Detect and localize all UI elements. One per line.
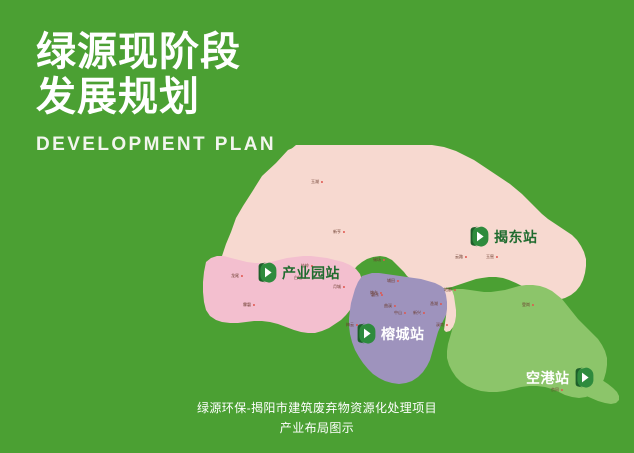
city-dot-label: 中山	[394, 310, 402, 316]
city-dot: 渔湖	[430, 301, 442, 307]
green-logo-icon	[357, 323, 376, 344]
title-line-2: 发展规划	[36, 75, 276, 120]
station-label: 产业园站	[282, 263, 340, 283]
city-dot-marker	[495, 256, 498, 259]
city-dot-label: 梅云	[346, 322, 354, 328]
poster-root: 绿源现阶段 发展规划 DEVELOPMENT PLAN 揭东站 产业园站 榕城站…	[0, 0, 634, 453]
city-dot-marker	[320, 181, 323, 184]
city-dot: 锡场	[373, 257, 385, 263]
city-dot-marker	[342, 286, 345, 289]
station-industrial-park[interactable]: 产业园站	[258, 262, 340, 283]
city-dot: 埔田	[387, 278, 399, 284]
city-dot-marker	[464, 256, 467, 259]
city-dot-marker	[380, 294, 383, 297]
title-block: 绿源现阶段 发展规划 DEVELOPMENT PLAN	[36, 30, 276, 156]
city-dot: 云路	[455, 254, 467, 260]
city-dot: 溪南	[436, 322, 448, 328]
city-dot-label: 磐东	[371, 292, 379, 298]
city-dot-label: 玉湖	[311, 179, 319, 185]
city-dot-label: 云路	[455, 254, 463, 260]
city-dot: 磐东	[371, 292, 383, 298]
city-dot-marker	[439, 303, 442, 306]
city-dot-label: 渔湖	[430, 301, 438, 307]
city-dot-label: 地都	[444, 287, 452, 293]
station-jiedong[interactable]: 揭东站	[470, 226, 538, 247]
city-dot-label: 月城	[333, 284, 341, 290]
city-dot-label: 新亨	[333, 229, 341, 235]
city-dot-label: 埔田	[387, 278, 395, 284]
city-dot-marker	[240, 275, 243, 278]
city-dot-label: 新兴	[413, 310, 421, 316]
city-dot: 新兴	[413, 310, 425, 316]
green-logo-icon	[470, 226, 489, 247]
city-dot: 中山	[394, 310, 406, 316]
city-dot-marker	[252, 304, 255, 307]
city-dot-marker	[382, 259, 385, 262]
city-dot-label: 曲溪	[384, 303, 392, 309]
city-dot: 新亨	[333, 229, 345, 235]
city-dot-label: 霖磐	[243, 302, 251, 308]
station-label: 揭东站	[494, 227, 538, 247]
city-dot-marker	[560, 389, 563, 392]
city-dot-marker	[393, 305, 396, 308]
title-line-1: 绿源现阶段	[36, 30, 276, 75]
city-dot-label: 玉窖	[486, 254, 494, 260]
city-dot-marker	[403, 312, 406, 315]
city-dot: 曲溪	[384, 303, 396, 309]
city-dot-label: 龙尾	[231, 273, 239, 279]
city-dot-marker	[531, 304, 534, 307]
station-rongcheng[interactable]: 榕城站	[357, 323, 425, 344]
caption-block: 绿源环保-揭阳市建筑废弃物资源化处理项目 产业布局图示	[0, 398, 634, 438]
station-label: 榕城站	[381, 324, 425, 344]
city-dot: 霖磐	[243, 302, 255, 308]
city-dot: 地都	[444, 287, 456, 293]
caption-line-2: 产业布局图示	[0, 418, 634, 438]
city-dot-marker	[422, 312, 425, 315]
city-dot: 登岗	[522, 302, 534, 308]
city-dot: 月城	[333, 284, 345, 290]
city-dot: 玉窖	[486, 254, 498, 260]
station-airport[interactable]: 空港站	[526, 367, 594, 388]
green-logo-icon	[575, 367, 594, 388]
subtitle: DEVELOPMENT PLAN	[36, 134, 276, 156]
city-dot-marker	[453, 289, 456, 292]
city-dot-marker	[396, 280, 399, 283]
city-dot-marker	[342, 231, 345, 234]
city-dot: 龙尾	[231, 273, 243, 279]
city-dot-label: 溪南	[436, 322, 444, 328]
green-logo-icon	[258, 262, 277, 283]
city-dot: 玉湖	[311, 179, 323, 185]
caption-line-1: 绿源环保-揭阳市建筑废弃物资源化处理项目	[0, 398, 634, 418]
station-label: 空港站	[526, 368, 570, 388]
city-dot-label: 锡场	[373, 257, 381, 263]
city-dot-marker	[445, 324, 448, 327]
city-dot-label: 登岗	[522, 302, 530, 308]
